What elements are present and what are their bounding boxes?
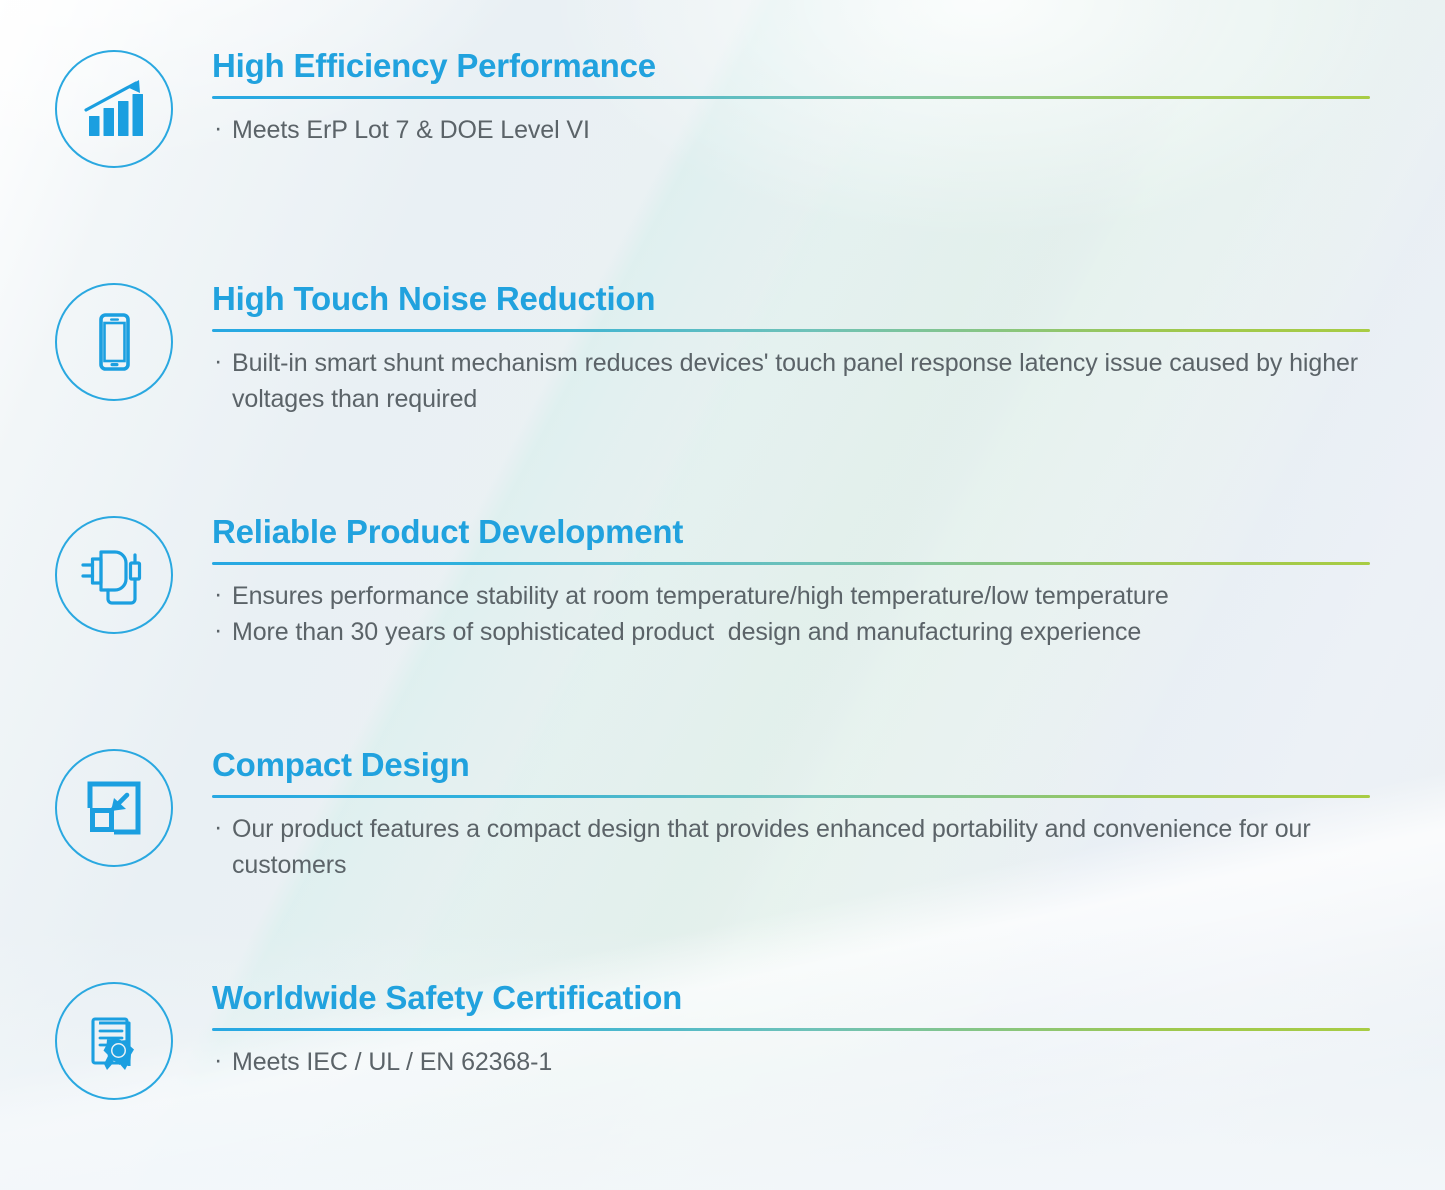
feature-icon-container xyxy=(50,48,178,168)
feature-bullet: Our product features a compact design th… xyxy=(212,811,1405,883)
feature-title: Compact Design xyxy=(212,747,1405,784)
feature-bullet-list: Ensures performance stability at room te… xyxy=(212,578,1405,650)
feature-divider xyxy=(212,329,1370,332)
feature-list-page: High Efficiency Performance Meets ErP Lo… xyxy=(0,0,1445,1190)
feature-bullet: Meets ErP Lot 7 & DOE Level VI xyxy=(212,112,1405,148)
feature-bullet-list: Our product features a compact design th… xyxy=(212,811,1405,883)
feature-bullet: More than 30 years of sophisticated prod… xyxy=(212,614,1405,650)
feature-divider xyxy=(212,96,1370,99)
power-adapter-icon xyxy=(55,516,173,634)
certificate-seal-icon xyxy=(55,982,173,1100)
bar-chart-growth-icon xyxy=(55,50,173,168)
feature-icon-container xyxy=(50,747,178,867)
feature-icon-container xyxy=(50,514,178,634)
feature-body: Compact Design Our product features a co… xyxy=(212,747,1445,883)
feature-title: High Efficiency Performance xyxy=(212,48,1405,85)
feature-bullet-list: Meets ErP Lot 7 & DOE Level VI xyxy=(212,112,1405,148)
feature-divider xyxy=(212,1028,1370,1031)
feature-item: Reliable Product Development Ensures per… xyxy=(0,514,1445,650)
feature-item: High Touch Noise Reduction Built-in smar… xyxy=(0,281,1445,417)
feature-item: Worldwide Safety Certification Meets IEC… xyxy=(0,980,1445,1100)
feature-title: Reliable Product Development xyxy=(212,514,1405,551)
feature-bullet: Meets IEC / UL / EN 62368-1 xyxy=(212,1044,1405,1080)
feature-icon-container xyxy=(50,281,178,401)
feature-bullet-list: Built-in smart shunt mechanism reduces d… xyxy=(212,345,1405,417)
smartphone-icon xyxy=(55,283,173,401)
feature-bullet: Ensures performance stability at room te… xyxy=(212,578,1405,614)
feature-icon-container xyxy=(50,980,178,1100)
feature-body: High Efficiency Performance Meets ErP Lo… xyxy=(212,48,1445,148)
feature-body: Worldwide Safety Certification Meets IEC… xyxy=(212,980,1445,1080)
feature-body: High Touch Noise Reduction Built-in smar… xyxy=(212,281,1445,417)
feature-item: High Efficiency Performance Meets ErP Lo… xyxy=(0,48,1445,168)
feature-bullet-list: Meets IEC / UL / EN 62368-1 xyxy=(212,1044,1405,1080)
feature-body: Reliable Product Development Ensures per… xyxy=(212,514,1445,650)
feature-divider xyxy=(212,562,1370,565)
feature-divider xyxy=(212,795,1370,798)
feature-title: High Touch Noise Reduction xyxy=(212,281,1405,318)
feature-bullet: Built-in smart shunt mechanism reduces d… xyxy=(212,345,1405,417)
compress-resize-icon xyxy=(55,749,173,867)
feature-title: Worldwide Safety Certification xyxy=(212,980,1405,1017)
feature-item: Compact Design Our product features a co… xyxy=(0,747,1445,883)
